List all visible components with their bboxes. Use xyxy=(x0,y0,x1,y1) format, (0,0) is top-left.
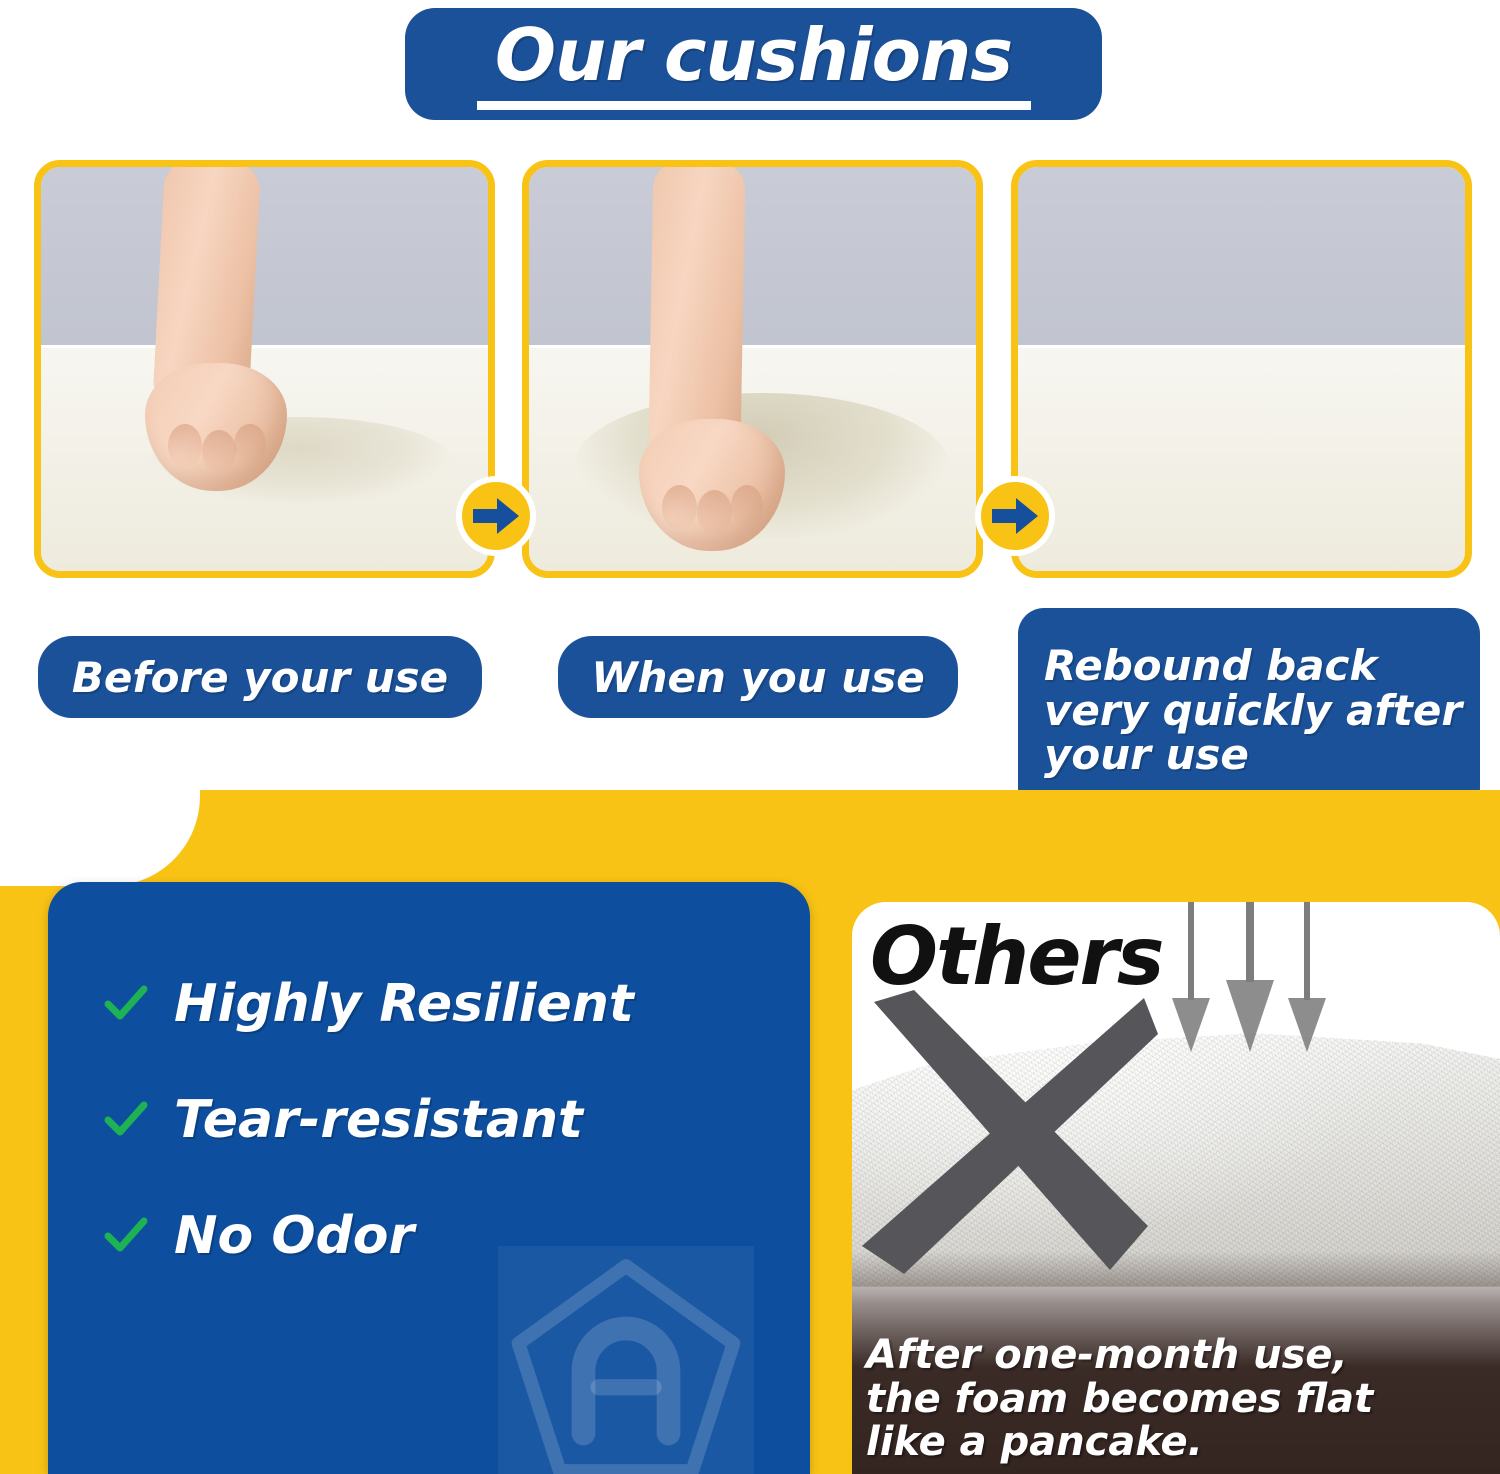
foam-top-edge xyxy=(529,345,976,348)
page-title: Our cushions xyxy=(495,19,1012,95)
photo-before-use xyxy=(34,160,495,578)
caption-rebound-lines: Rebound back very quickly after your use xyxy=(1044,644,1480,779)
caption-line: Rebound back xyxy=(1044,641,1377,690)
check-icon xyxy=(104,1214,148,1258)
forearm xyxy=(648,160,745,450)
arrow-right-icon xyxy=(975,476,1055,556)
knuckle xyxy=(662,485,697,530)
knuckle xyxy=(697,490,732,535)
caption-rebound: Rebound back very quickly after your use xyxy=(1018,608,1480,814)
others-comparison-panel: Others xyxy=(852,902,1500,1474)
photo-rebounded xyxy=(1011,160,1472,578)
feature-label: No Odor xyxy=(174,1206,414,1266)
knuckle xyxy=(202,430,236,474)
scene-pressing xyxy=(529,167,976,571)
infographic-root: Our cushions xyxy=(0,0,1500,1474)
list-item: Highly Resilient xyxy=(104,974,764,1034)
wall-background xyxy=(529,167,976,361)
caption-line: very quickly xyxy=(1044,686,1332,735)
photo-when-using xyxy=(522,160,983,578)
knuckle xyxy=(168,424,202,468)
scene-before xyxy=(41,167,488,571)
foam-slab xyxy=(1018,345,1465,571)
others-caption-line: like a pancake. xyxy=(866,1421,1486,1464)
foam-top-edge xyxy=(41,345,488,348)
others-caption-line: the foam becomes flat xyxy=(866,1378,1486,1421)
title-underline xyxy=(477,101,1031,110)
knuckle xyxy=(234,424,265,465)
x-mark-icon xyxy=(858,988,1158,1278)
wall-background xyxy=(41,167,488,361)
caption-when-using: When you use xyxy=(558,636,958,718)
foam-top-edge xyxy=(1018,345,1465,348)
feature-label: Highly Resilient xyxy=(174,974,634,1034)
page-title-banner: Our cushions xyxy=(405,8,1102,120)
check-icon xyxy=(104,1098,148,1142)
wall-background xyxy=(1018,167,1465,361)
knuckle xyxy=(731,485,763,527)
pentagon-logo-icon xyxy=(498,1246,754,1474)
our-cushion-feature-panel: Highly Resilient Tear-resistant No Odor xyxy=(48,882,810,1474)
scene-rebounded xyxy=(1018,167,1465,571)
feature-label: Tear-resistant xyxy=(174,1090,583,1150)
check-icon xyxy=(104,982,148,1026)
others-caption: After one-month use, the foam becomes fl… xyxy=(866,1334,1486,1464)
comparison-photo-row xyxy=(0,160,1500,580)
caption-before-use: Before your use xyxy=(38,636,482,718)
arrow-right-icon xyxy=(456,476,536,556)
others-caption-line: After one-month use, xyxy=(866,1334,1486,1377)
arrow-down-icon-group xyxy=(1142,902,1352,1086)
list-item: Tear-resistant xyxy=(104,1090,764,1150)
